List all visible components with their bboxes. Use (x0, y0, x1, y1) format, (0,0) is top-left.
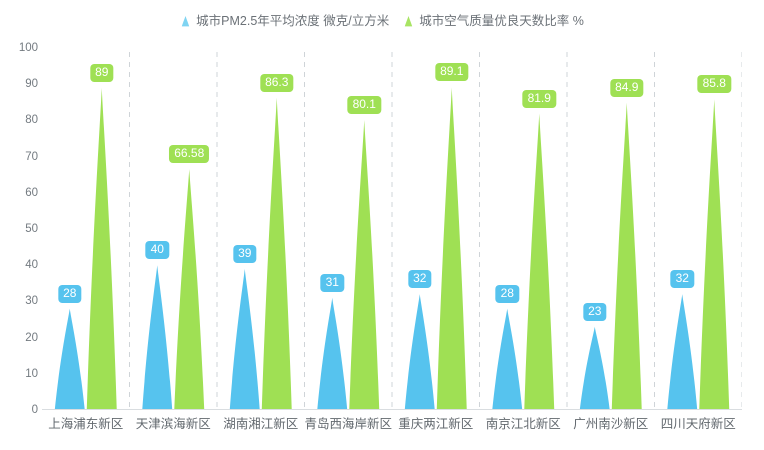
value-badge-air-quality: 89 (90, 64, 113, 82)
x-tick-label: 上海浦东新区 (48, 416, 123, 432)
value-badge-air-quality: 80.1 (348, 96, 381, 114)
bar-air-quality[interactable] (87, 88, 117, 410)
y-tick-label: 30 (4, 295, 38, 307)
value-badge-air-quality: 84.9 (610, 79, 643, 97)
value-badge-air-quality: 89.1 (435, 63, 468, 81)
bar-air-quality[interactable] (174, 169, 204, 410)
bar-pm25[interactable] (317, 298, 347, 410)
bar-pm25[interactable] (667, 294, 697, 410)
value-badge-pm25: 28 (496, 285, 519, 303)
value-badge-pm25: 32 (671, 270, 694, 288)
y-tick-label: 80 (4, 114, 38, 126)
x-axis: 上海浦东新区天津滨海新区湖南湘江新区青岛西海岸新区重庆两江新区南京江北新区广州南… (42, 416, 742, 438)
legend-item-pm25[interactable]: 城市PM2.5年平均浓度 微克/立方米 (180, 14, 389, 28)
value-badge-pm25: 32 (408, 270, 431, 288)
plot-area: 28894066.583986.33180.13289.12881.92384.… (42, 48, 742, 410)
y-tick-label: 50 (4, 223, 38, 235)
value-badge-air-quality: 81.9 (523, 90, 556, 108)
x-tick-label: 四川天府新区 (661, 416, 736, 432)
bar-pm25[interactable] (580, 327, 610, 410)
value-badge-pm25: 23 (583, 303, 606, 321)
spike-marker-green-icon (403, 16, 414, 27)
bar-air-quality[interactable] (524, 114, 554, 410)
legend-item-air-quality[interactable]: 城市空气质量优良天数比率 % (403, 14, 584, 28)
y-axis: 0102030405060708090100 (0, 48, 38, 410)
y-tick-label: 90 (4, 78, 38, 90)
value-badge-pm25: 39 (233, 245, 256, 263)
value-badge-pm25: 28 (58, 285, 81, 303)
x-tick-label: 广州南沙新区 (573, 416, 648, 432)
value-badge-pm25: 31 (321, 274, 344, 292)
bar-pm25[interactable] (405, 294, 435, 410)
y-tick-label: 60 (4, 187, 38, 199)
y-tick-label: 40 (4, 259, 38, 271)
x-tick-label: 湖南湘江新区 (223, 416, 298, 432)
y-tick-label: 20 (4, 332, 38, 344)
y-tick-label: 0 (4, 404, 38, 416)
spike-marker-blue-icon (180, 16, 191, 27)
bar-air-quality[interactable] (699, 99, 729, 410)
x-tick-label: 青岛西海岸新区 (304, 416, 392, 432)
x-tick-label: 重庆两江新区 (398, 416, 473, 432)
y-tick-label: 70 (4, 151, 38, 163)
value-badge-pm25: 40 (146, 241, 169, 259)
bar-pm25[interactable] (492, 309, 522, 410)
bar-air-quality[interactable] (349, 120, 379, 410)
y-tick-label: 10 (4, 368, 38, 380)
bar-pm25[interactable] (142, 265, 172, 410)
value-badge-air-quality: 86.3 (260, 74, 293, 92)
x-tick-label: 南京江北新区 (486, 416, 561, 432)
y-tick-label: 100 (4, 42, 38, 54)
value-badge-air-quality: 66.58 (169, 145, 209, 163)
bar-pm25[interactable] (55, 309, 85, 410)
x-tick-label: 天津滨海新区 (136, 416, 211, 432)
chart-canvas (42, 48, 742, 410)
bar-air-quality[interactable] (437, 87, 467, 410)
bar-pm25[interactable] (230, 269, 260, 410)
chart-container: 城市PM2.5年平均浓度 微克/立方米 城市空气质量优良天数比率 % 01020… (0, 0, 764, 450)
bar-air-quality[interactable] (262, 98, 292, 410)
bar-air-quality[interactable] (612, 103, 642, 410)
legend-label-pm25: 城市PM2.5年平均浓度 微克/立方米 (196, 14, 389, 28)
chart-legend: 城市PM2.5年平均浓度 微克/立方米 城市空气质量优良天数比率 % (0, 14, 764, 28)
legend-label-air-quality: 城市空气质量优良天数比率 % (419, 14, 584, 28)
value-badge-air-quality: 85.8 (698, 75, 731, 93)
